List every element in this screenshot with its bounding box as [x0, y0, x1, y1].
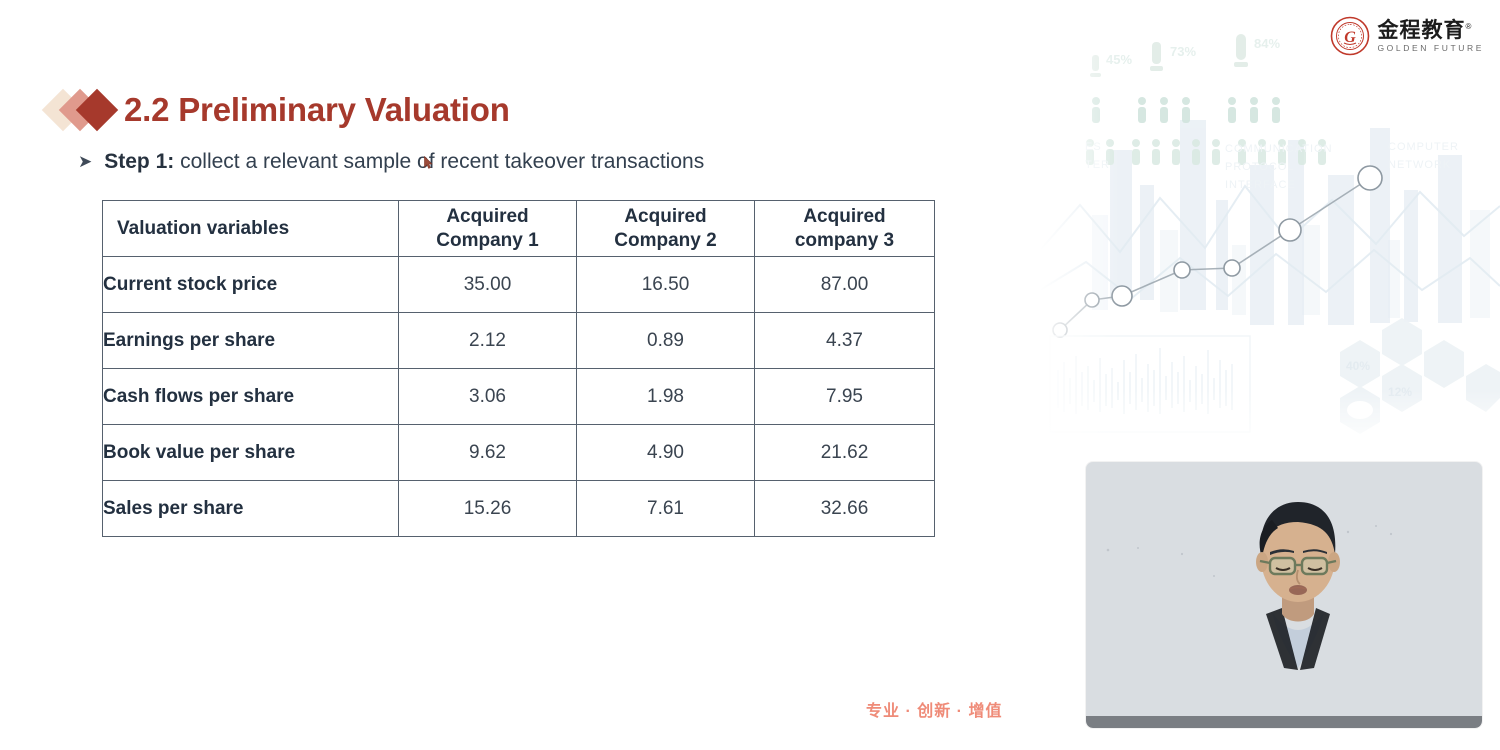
- svg-text:TER: TER: [1085, 159, 1110, 171]
- row-value-company-3: 21.62: [755, 425, 935, 481]
- row-value-company-3: 87.00: [755, 257, 935, 313]
- pictogram-people: 45% 73% 84%: [1086, 34, 1326, 165]
- row-label: Earnings per share: [103, 313, 399, 369]
- presenter-video-frame: [1086, 462, 1482, 728]
- header-cell-variables: Valuation variables: [103, 201, 399, 257]
- header-line-1: Valuation variables: [117, 218, 289, 239]
- header-line-1: Acquired: [624, 206, 706, 227]
- step-description: collect a relevant sample of recent take…: [174, 150, 704, 173]
- step-label: Step 1:: [104, 150, 174, 173]
- row-value-company-1: 35.00: [399, 257, 577, 313]
- table-row: Earnings per share 2.12 0.89 4.37: [103, 313, 935, 369]
- logo-trademark-symbol: ®: [1465, 22, 1472, 31]
- row-value-company-2: 1.98: [577, 369, 755, 425]
- row-label: Sales per share: [103, 481, 399, 537]
- row-value-company-1: 3.06: [399, 369, 577, 425]
- row-value-company-2: 0.89: [577, 313, 755, 369]
- seal-icon: G: [1330, 16, 1370, 56]
- step-bullet-row: ➤ Step 1: collect a relevant sample of r…: [78, 150, 704, 174]
- svg-text:PROTOCOL: PROTOCOL: [1225, 161, 1295, 173]
- background-fade-bottom: [1040, 390, 1500, 460]
- row-value-company-3: 4.37: [755, 313, 935, 369]
- footer-tagline: 专业 · 创新 · 增值: [866, 697, 1002, 721]
- row-value-company-2: 7.61: [577, 481, 755, 537]
- table-row: Book value per share 9.62 4.90 21.62: [103, 425, 935, 481]
- svg-text:84%: 84%: [1254, 36, 1280, 51]
- header-cell-company-3: Acquired company 3: [755, 201, 935, 257]
- row-value-company-3: 32.66: [755, 481, 935, 537]
- svg-text:COMPUTER: COMPUTER: [1388, 141, 1459, 153]
- header-line-1: Acquired: [446, 206, 528, 227]
- row-value-company-2: 4.90: [577, 425, 755, 481]
- background-fade-left: [1040, 0, 1120, 460]
- row-label: Cash flows per share: [103, 369, 399, 425]
- row-value-company-1: 2.12: [399, 313, 577, 369]
- row-label: Book value per share: [103, 425, 399, 481]
- svg-text:40%: 40%: [1346, 359, 1370, 373]
- header-line-2: Company 1: [399, 229, 576, 252]
- svg-text:INTERFACE: INTERFACE: [1225, 179, 1296, 191]
- svg-text:NETWORK: NETWORK: [1388, 159, 1451, 171]
- header-line-2: company 3: [755, 229, 934, 252]
- svg-text:12%: 12%: [1388, 385, 1412, 399]
- brand-logo: G 金程教育® GOLDEN FUTURE: [1330, 16, 1484, 56]
- table-header-row: Valuation variables Acquired Company 1 A…: [103, 201, 935, 257]
- page-title: 2.2 Preliminary Valuation: [124, 91, 510, 129]
- svg-text:COMMUNICATION: COMMUNICATION: [1225, 143, 1333, 155]
- presenter-video-panel[interactable]: [1086, 462, 1482, 728]
- candlestick-panel: [1050, 336, 1250, 432]
- background-infographic: 45% 73% 84% ES TER COMMUNICATION PROTOCO…: [1040, 0, 1500, 460]
- faded-bars: [1110, 120, 1462, 325]
- logo-english-name: GOLDEN FUTURE: [1377, 44, 1484, 53]
- svg-text:ES: ES: [1085, 141, 1102, 153]
- slide-title-row: 2.2 Preliminary Valuation: [48, 84, 510, 136]
- row-label: Current stock price: [103, 257, 399, 313]
- logo-chinese-text: 金程教育: [1377, 19, 1465, 42]
- svg-text:45%: 45%: [1106, 52, 1132, 67]
- logo-chinese-name: 金程教育®: [1377, 20, 1484, 41]
- hexagon-cluster: 40% 12%: [1340, 318, 1500, 434]
- header-line-1: Acquired: [803, 206, 885, 227]
- line-chart-overlay: [1053, 166, 1382, 337]
- svg-text:73%: 73%: [1170, 44, 1196, 59]
- step-bullet-text: Step 1: collect a relevant sample of rec…: [104, 150, 704, 174]
- slide-screen: 45% 73% 84% ES TER COMMUNICATION PROTOCO…: [0, 0, 1500, 750]
- arrow-bullet-icon: ➤: [78, 153, 92, 170]
- table-row: Sales per share 15.26 7.61 32.66: [103, 481, 935, 537]
- diamond-bullet-icon: [48, 88, 124, 132]
- row-value-company-2: 16.50: [577, 257, 755, 313]
- header-cell-company-1: Acquired Company 1: [399, 201, 577, 257]
- row-value-company-1: 9.62: [399, 425, 577, 481]
- valuation-table: Valuation variables Acquired Company 1 A…: [102, 200, 935, 537]
- header-cell-company-2: Acquired Company 2: [577, 201, 755, 257]
- background-infographic-svg: 45% 73% 84% ES TER COMMUNICATION PROTOCO…: [1040, 0, 1500, 460]
- row-value-company-1: 15.26: [399, 481, 577, 537]
- table-row: Cash flows per share 3.06 1.98 7.95: [103, 369, 935, 425]
- header-line-2: Company 2: [577, 229, 754, 252]
- row-value-company-3: 7.95: [755, 369, 935, 425]
- table-row: Current stock price 35.00 16.50 87.00: [103, 257, 935, 313]
